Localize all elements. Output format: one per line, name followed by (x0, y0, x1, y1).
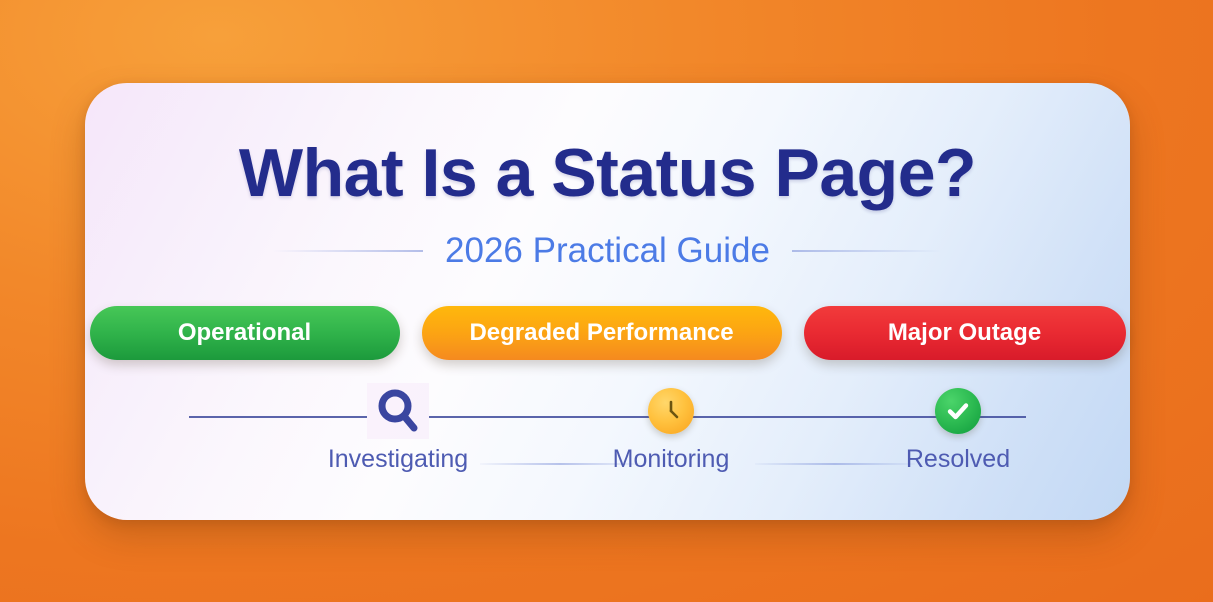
status-pill-operational[interactable]: Operational (90, 306, 400, 360)
header-block: What Is a Status Page? (85, 139, 1130, 207)
subtitle-rule-left (273, 250, 423, 252)
clock-hands-icon (656, 396, 686, 426)
checkmark-icon (943, 396, 973, 426)
timeline-step-investigating[interactable]: Investigating (303, 383, 493, 474)
timeline-step-label-investigating: Investigating (303, 445, 493, 474)
subtitle-block: 2026 Practical Guide (85, 233, 1130, 268)
incident-timeline: Investigating Monitoring (85, 383, 1130, 503)
clock-icon-wrap (576, 383, 766, 439)
status-page-card: What Is a Status Page? 2026 Practical Gu… (85, 83, 1130, 520)
status-pill-degraded-performance[interactable]: Degraded Performance (422, 306, 782, 360)
check-circle-icon (935, 388, 981, 434)
timeline-step-monitoring[interactable]: Monitoring (576, 383, 766, 474)
timeline-step-label-monitoring: Monitoring (576, 445, 766, 474)
check-icon-wrap (863, 383, 1053, 439)
page-title: What Is a Status Page? (85, 139, 1130, 207)
magnifier-icon (370, 383, 426, 439)
timeline-step-label-resolved: Resolved (863, 445, 1053, 474)
subtitle-rule-right (792, 250, 942, 252)
status-pill-row: Operational Degraded Performance Major O… (85, 306, 1130, 360)
magnifier-icon-wrap (303, 383, 493, 439)
status-pill-major-outage[interactable]: Major Outage (804, 306, 1126, 360)
poster-canvas: What Is a Status Page? 2026 Practical Gu… (0, 0, 1213, 602)
clock-icon (648, 388, 694, 434)
page-subtitle: 2026 Practical Guide (445, 233, 770, 268)
timeline-step-resolved[interactable]: Resolved (863, 383, 1053, 474)
